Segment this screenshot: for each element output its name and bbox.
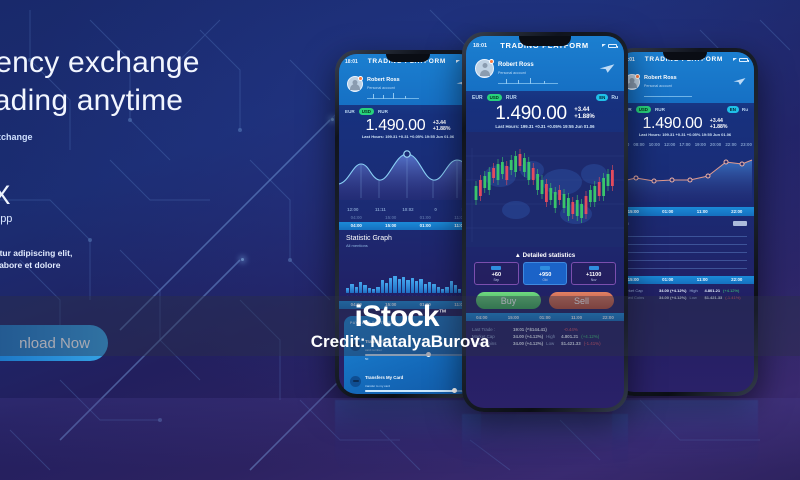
paper-plane-icon <box>599 63 615 74</box>
axis-tick[interactable]: 04:00 <box>339 222 374 230</box>
bar <box>445 287 448 293</box>
trademark-icon: ™ <box>439 308 446 317</box>
phone-notch <box>519 36 571 46</box>
candlestick-chart <box>466 132 624 247</box>
last-hours-text: Last Hours: 199.31 +0.31 +0.05% 19:55 Ju… <box>343 134 473 139</box>
price-value: 1.490.00 <box>495 103 567 125</box>
bar <box>385 283 388 293</box>
candle-body <box>501 162 504 174</box>
bar <box>450 281 453 293</box>
currency-eur[interactable]: EUR <box>345 109 355 114</box>
currency-eur[interactable]: EUR <box>472 95 483 101</box>
user-mini-sparkline <box>498 77 558 84</box>
stat-card-month: Sep <box>476 278 517 282</box>
bar <box>441 289 444 293</box>
notification-badge-icon <box>489 59 494 64</box>
table-value: 4.801.21 <box>704 287 720 294</box>
status-time: 18:01 <box>473 43 487 49</box>
detailed-statistics-title[interactable]: ▲ Detailed statistics <box>466 247 624 262</box>
candle-body <box>545 184 548 202</box>
axis-tick: 01:00 <box>408 213 443 221</box>
stat-card-group[interactable]: +60 Sep +950 Okt +1100 Nov <box>466 262 624 285</box>
bar <box>350 284 353 292</box>
axis-tick: 0 <box>422 205 450 213</box>
phone-notch <box>386 54 430 62</box>
hero-lorem-2: didunt ut labore et dolore <box>0 259 258 271</box>
payment-item-sub: transfer to my card <box>365 384 466 388</box>
payment-item-value: 80 <box>365 393 466 394</box>
bar <box>454 285 457 293</box>
lang-alt[interactable]: Ru <box>742 107 748 112</box>
axis-tick[interactable]: 01:00 <box>651 276 686 284</box>
axis-tick: 04:00 <box>339 213 374 221</box>
price-change-pct: +1.88% <box>710 124 728 130</box>
statistic-graph-sub: All mentions <box>339 242 477 251</box>
stat-card-okt[interactable]: +950 Okt <box>523 262 568 285</box>
phone-notch <box>663 52 707 60</box>
currency-selector[interactable]: EUR USD RUR EN Ru <box>616 103 754 114</box>
list-item <box>623 236 747 237</box>
candle-body <box>510 160 513 170</box>
lang-alt[interactable]: Ru <box>611 95 618 101</box>
candle-body <box>536 174 539 190</box>
avatar <box>347 76 363 92</box>
paper-plane-icon <box>733 77 746 86</box>
axis-tick[interactable]: 01:00 <box>651 207 686 215</box>
table-delta: (+4.12%) <box>723 287 739 294</box>
user-mini-sparkline <box>367 92 419 99</box>
axis-tick[interactable]: 22:00 <box>720 207 755 215</box>
notification-badge-icon <box>635 74 640 79</box>
axis-tick[interactable]: 01:00 <box>408 222 443 230</box>
user-name: Robert Ross <box>644 75 677 81</box>
stat-card-nov[interactable]: +1100 Nov <box>571 262 616 285</box>
bar <box>428 282 431 293</box>
axis-tick: 20:00 <box>708 140 723 148</box>
chart-axis-bottom-2[interactable]: 15:00 01:00 11:00 22:00 <box>616 276 754 284</box>
candle-body <box>589 190 592 202</box>
chart-axis-top: 12:00 11:11 10:02 0 N <box>339 205 477 213</box>
area-chart-svg <box>339 142 477 200</box>
candle-body <box>567 198 570 216</box>
candle-body <box>479 180 482 196</box>
candle-body <box>598 182 601 196</box>
table-value: 34.00 (+4.12%) <box>659 287 686 294</box>
istock-brand: iStock <box>354 300 438 333</box>
price-delta: +3.44 +1.88% <box>710 118 728 131</box>
bar <box>411 278 414 293</box>
bar <box>368 288 371 293</box>
line-chart <box>616 148 754 207</box>
candle-body <box>541 180 544 194</box>
bar <box>376 287 379 293</box>
notification-badge-icon <box>358 76 363 81</box>
candle-body <box>483 176 486 188</box>
candle-body <box>475 186 478 200</box>
axis-tick: 10:00 <box>647 140 662 148</box>
bar <box>419 279 422 292</box>
bar <box>415 281 418 293</box>
price-value: 1.490.00 <box>642 115 702 133</box>
currency-rur[interactable]: RUR <box>506 95 517 101</box>
price-change-abs: +3.44 <box>574 107 595 115</box>
currency-rur[interactable]: RUR <box>655 107 665 112</box>
card-tag-icon <box>491 266 501 270</box>
axis-tick: 19:00 <box>693 140 708 148</box>
payment-item-title: Transfers My Card <box>365 375 403 380</box>
user-row[interactable]: Robert Ross Personal account <box>473 50 617 88</box>
currency-rur[interactable]: RUR <box>378 109 388 114</box>
candlestick-svg <box>466 132 624 247</box>
currency-selector[interactable]: EUR USD RUR <box>339 105 477 116</box>
data-row-list <box>616 236 754 269</box>
axis-tick: 15:00 <box>374 213 409 221</box>
price-block: 1.490.00 +3.44 +1.88% Last Hours: 199.31… <box>339 116 477 142</box>
candle-body <box>558 190 561 200</box>
signal-icon <box>456 60 460 63</box>
bar <box>389 278 392 293</box>
candle-body <box>563 194 566 208</box>
lang-pill[interactable]: EN <box>596 94 608 101</box>
surface-reflection <box>0 398 800 480</box>
last-hours-text: Last Hours: 199.31 +0.31 +0.05% 19:55 Ju… <box>470 124 620 129</box>
axis-tick: 17:00 <box>677 140 692 148</box>
detailed-statistics-label: Detailed statistics <box>523 252 576 259</box>
candle-body <box>580 204 583 218</box>
price-delta: +3.44 +1.88% <box>574 107 595 122</box>
glow-dot <box>331 118 334 121</box>
list-item <box>623 268 747 269</box>
candle-body <box>527 162 530 180</box>
currency-usd-selected[interactable]: USD <box>636 106 651 113</box>
price-delta: +3.44 +1.88% <box>433 120 451 133</box>
candle-body <box>585 196 588 214</box>
area-chart: 12:00 11:11 10:02 0 N 04:00 15:00 01:00 … <box>339 142 477 230</box>
candle-body <box>532 168 535 180</box>
stat-card-month: Okt <box>525 278 566 282</box>
bar <box>359 282 362 293</box>
bar <box>381 280 384 293</box>
candle-body <box>549 188 552 200</box>
stat-card-sep[interactable]: +60 Sep <box>474 262 519 285</box>
table-row: Market Cap 34.00 (+4.12%) High 4.801.21 … <box>622 287 748 294</box>
chart-axis-bottom[interactable]: 15:00 01:00 11:00 22:00 <box>616 207 754 215</box>
hero-uiux-title: I/UX <box>0 180 258 211</box>
card-tag-icon <box>589 266 599 270</box>
hero-headline-1: urrency exchange <box>0 46 258 80</box>
bar <box>363 285 366 293</box>
axis-tick: 11:11 <box>367 205 395 213</box>
lang-pill[interactable]: EN <box>727 106 739 113</box>
payment-slider[interactable] <box>365 390 466 392</box>
card-icon <box>350 376 361 387</box>
price-block: 1.490.00 +3.44 +1.88% Last Hours: 199.31… <box>616 114 754 140</box>
reflection-center <box>462 414 628 480</box>
bar <box>346 288 349 293</box>
user-role: Personal account <box>498 71 558 76</box>
battery-icon <box>608 44 617 48</box>
bar <box>393 276 396 293</box>
user-name: Robert Ross <box>498 62 534 68</box>
user-row[interactable]: Robert Ross Personal account <box>622 63 748 101</box>
axis-tick: 12:00 <box>662 140 677 148</box>
line-chart-svg <box>616 148 754 202</box>
candle-body <box>576 200 579 216</box>
candle-body <box>554 192 557 208</box>
status-time: 18:01 <box>345 59 358 65</box>
price-change-pct: +1.88% <box>433 126 451 132</box>
user-mini-sparkline <box>644 90 692 97</box>
price-change-pct: +1.88% <box>574 114 595 122</box>
candle-body <box>488 172 491 190</box>
axis-tick[interactable]: 11:00 <box>685 276 720 284</box>
candle-body <box>497 164 500 180</box>
candle-body <box>519 154 522 166</box>
candle-body <box>505 166 508 180</box>
currency-usd-selected[interactable]: USD <box>487 94 502 101</box>
axis-tick: 23:00 <box>739 140 754 148</box>
candle-body <box>523 158 526 172</box>
hero-uiux-sub: Mobile App <box>0 213 258 225</box>
bar <box>406 280 409 293</box>
axis-tick: 10:02 <box>394 205 422 213</box>
bar <box>432 284 435 293</box>
bar <box>424 284 427 292</box>
reflection-right <box>612 400 758 474</box>
list-item <box>623 244 747 245</box>
hero-lorem-1: , consectetur adipiscing elit, <box>0 247 258 259</box>
bar <box>398 279 401 293</box>
bar <box>437 287 440 293</box>
istock-watermark: iStock™ <box>0 300 800 334</box>
payment-item-value: 50 <box>365 357 466 361</box>
battery-icon <box>739 58 748 62</box>
price-block: 1.490.00 +3.44 +1.88% Last Hours: 199.31… <box>466 102 624 132</box>
axis-tick: 22:00 <box>723 140 738 148</box>
last-hours-text: Last Hours: 199.31 +0.31 +0.05% 19:55 Ju… <box>620 132 750 137</box>
user-role: Personal account <box>644 84 692 89</box>
price-value: 1.490.00 <box>365 117 425 135</box>
hero-subline: ons for exchange <box>0 132 258 142</box>
chart-axis-bottom[interactable]: 04:00 15:00 01:00 11:00 <box>339 222 477 230</box>
chart-axis-top: 04:0008:0010:0012:0017:0019:0020:0022:00… <box>616 140 754 148</box>
hero-headline-2: , trading anytime <box>0 84 258 118</box>
stat-card-month: Nov <box>573 278 614 282</box>
bar <box>402 277 405 293</box>
banner-canvas: urrency exchange , trading anytime ons f… <box>0 0 800 480</box>
signal-icon <box>602 44 606 47</box>
user-name: Robert Ross <box>367 77 400 83</box>
bar <box>355 287 358 293</box>
candle-body <box>593 186 596 202</box>
chart-axis-mid: 04:00 15:00 01:00 11:00 <box>339 213 477 221</box>
bar-chart <box>339 251 477 293</box>
card-tag-icon <box>540 266 550 270</box>
list-item <box>623 260 747 261</box>
reflection-left <box>335 400 481 474</box>
candle-body <box>602 178 605 196</box>
axis-tick[interactable]: 15:00 <box>374 222 409 230</box>
bar <box>458 289 461 292</box>
axis-tick: 12:00 <box>339 205 367 213</box>
currency-usd-selected[interactable]: USD <box>359 108 374 115</box>
candle-body <box>611 170 614 186</box>
currency-selector[interactable]: EUR USD RUR EN Ru <box>466 91 624 102</box>
candle-body <box>571 202 574 214</box>
signal-icon <box>733 58 737 61</box>
toggle-icon[interactable] <box>733 221 747 226</box>
list-item <box>623 252 747 253</box>
candle-body <box>492 168 495 178</box>
statistic-graph-title: Statistic Graph <box>339 230 477 242</box>
axis-tick[interactable]: 11:00 <box>685 207 720 215</box>
bar <box>372 289 375 293</box>
hero-copy: urrency exchange , trading anytime ons f… <box>0 46 258 271</box>
axis-tick: 08:00 <box>631 140 646 148</box>
credit-watermark: Credit: NatalyaBurova <box>0 332 800 352</box>
candle-body <box>514 156 517 172</box>
payment-item-transfers-my-card[interactable]: Transfers My Card transfer to my card 80 <box>350 366 466 394</box>
user-row[interactable]: Robert Ross Personal account <box>345 65 471 103</box>
avatar <box>475 59 494 78</box>
candle-body <box>607 174 610 186</box>
chevron-up-icon: ▲ <box>515 252 521 259</box>
user-role: Personal account <box>367 86 419 91</box>
table-key: High <box>689 287 701 294</box>
axis-tick[interactable]: 22:00 <box>720 276 755 284</box>
